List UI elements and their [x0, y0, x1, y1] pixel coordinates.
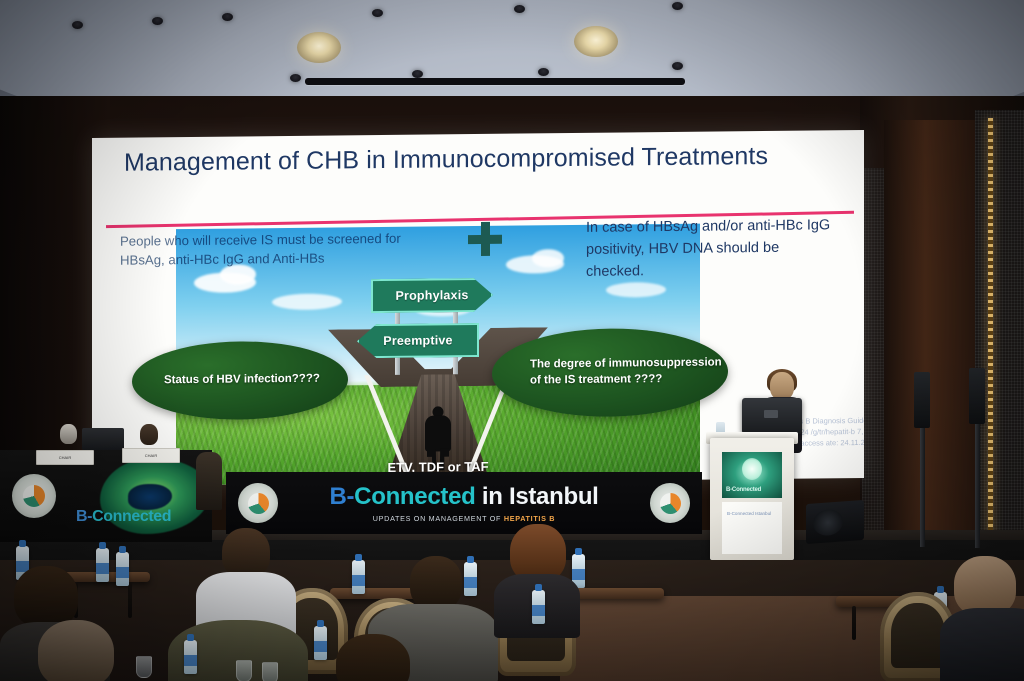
head-table-brand: B-Connected	[76, 508, 171, 526]
attendee-head	[14, 566, 78, 628]
podium-laptop	[742, 398, 802, 434]
chairperson-head	[140, 424, 158, 445]
ceiling-downlight-icon	[72, 21, 83, 29]
slide-title: Management of CHB in Immunocompromised T…	[124, 140, 824, 178]
slide-left-text: People who will receive IS must be scree…	[120, 229, 402, 270]
ceiling-downlight-icon	[538, 68, 549, 76]
banner-brand-connected: Connected	[354, 483, 475, 510]
chairperson-head	[60, 424, 77, 444]
attendee-head	[410, 556, 462, 610]
conference-emblem-icon	[12, 474, 56, 518]
slide-right-text: In case of HBsAg and/or anti-HBc IgG pos…	[586, 214, 836, 283]
water-bottle	[314, 626, 327, 660]
line-array-speaker	[914, 372, 930, 428]
stage-monitor-speaker	[806, 500, 864, 544]
conference-photo-scene: Management of CHB in Immunocompromised T…	[0, 0, 1024, 681]
table-leg	[852, 606, 856, 640]
ceiling-downlight-icon	[672, 2, 683, 10]
ceiling-spotlight-icon	[297, 32, 341, 63]
banner-subtitle: UPDATES ON MANAGEMENT OF HEPATITIS B	[373, 514, 555, 523]
nameplate-right: CHAIR	[122, 448, 180, 463]
water-glass	[236, 660, 252, 681]
head-table-panel: B-Connected	[0, 450, 212, 542]
side-chair	[196, 452, 222, 510]
banner-subtitle-pre: UPDATES ON MANAGEMENT OF	[373, 514, 504, 523]
banner-subtitle-bold: HEPATITIS B	[504, 514, 555, 523]
attendee-head	[222, 528, 270, 578]
ceiling-downlight-icon	[222, 13, 233, 21]
attendee-head	[336, 634, 410, 681]
wood-panel	[884, 120, 976, 580]
sign-preemptive: Preemptive	[357, 323, 479, 358]
speaker-head	[770, 372, 794, 400]
table-leg	[128, 582, 132, 618]
decorative-light-strip	[988, 118, 993, 568]
attendee-body	[940, 608, 1024, 681]
water-glass	[262, 662, 278, 681]
ceiling-downlight-icon	[412, 70, 423, 78]
banner-title: B-Connected in Istanbul	[329, 483, 598, 511]
water-bottle	[352, 560, 365, 594]
attendee	[318, 634, 438, 681]
attendee-head	[38, 620, 114, 681]
plus-icon	[468, 222, 502, 256]
head-table-brand-connected: Connected	[92, 508, 171, 525]
podium-lower-panel: B-Connected Istanbul	[722, 502, 782, 554]
head-table-brand-b: B-	[76, 508, 92, 525]
water-bottle	[184, 640, 197, 674]
ceiling-downlight-icon	[672, 62, 683, 70]
podium-brand-label: B-Connected	[726, 487, 761, 493]
water-bottle	[532, 590, 545, 624]
water-bottle	[116, 552, 129, 586]
attendee	[940, 556, 1024, 681]
mesh-panel-right	[975, 110, 1024, 580]
podium-lower-label: B-Connected Istanbul	[727, 511, 771, 516]
conference-emblem-icon	[650, 483, 690, 523]
ceiling-spotlight-icon	[574, 26, 618, 57]
banner-brand-suffix: in Istanbul	[475, 483, 598, 510]
ceiling-downlight-icon	[290, 74, 301, 82]
attendee-head	[954, 556, 1016, 616]
ceiling-downlight-icon	[514, 5, 525, 13]
ceiling-downlight-icon	[152, 17, 163, 25]
ceiling-vent	[305, 78, 685, 85]
stage-banner: B-Connected in Istanbul UPDATES ON MANAG…	[226, 472, 702, 534]
mesh-panel-right-inner	[862, 168, 884, 588]
podium-logo-panel: B-Connected	[722, 452, 782, 498]
banner-brand-b: B-	[329, 483, 354, 510]
ceiling-downlight-icon	[372, 9, 383, 17]
line-array-speaker	[969, 368, 985, 424]
water-glass	[136, 656, 152, 678]
conference-emblem-icon	[238, 483, 278, 523]
head-table-laptop	[82, 428, 124, 450]
sign-prophylaxis: Prophylaxis	[371, 278, 493, 313]
nameplate-left: CHAIR	[36, 450, 94, 465]
